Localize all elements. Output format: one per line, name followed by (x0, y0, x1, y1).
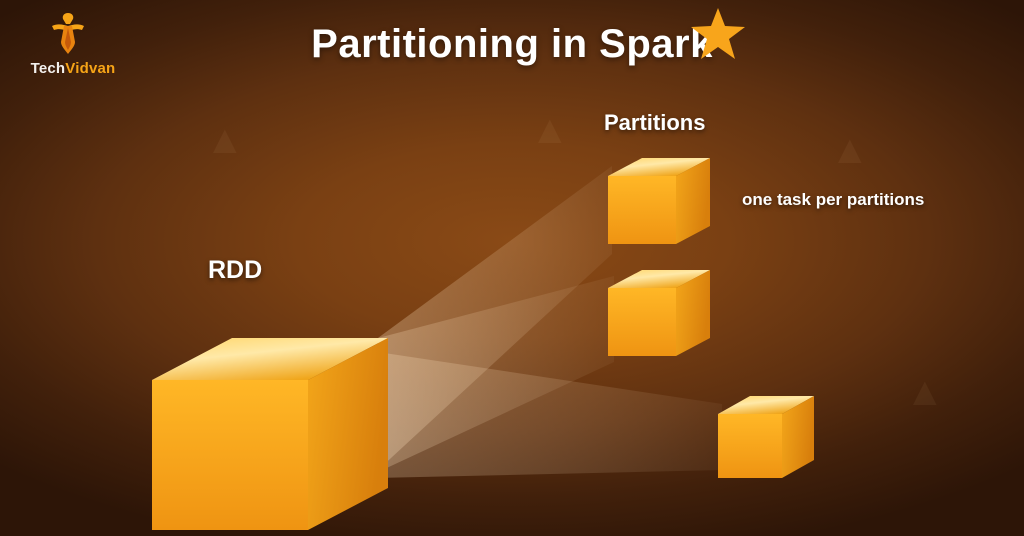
beam-to-partition-1 (378, 166, 612, 470)
page-title-wrap: Partitioning in Spark (0, 22, 1024, 67)
partition-cube-2 (606, 262, 712, 364)
label-rdd: RDD (208, 256, 262, 285)
partition-cube-3 (716, 390, 816, 486)
watermark-logo: ▲ (830, 130, 870, 170)
beam-to-partition-3 (378, 352, 722, 478)
watermark-logo: ▲ (205, 120, 245, 160)
watermark-logo: ▲ (530, 110, 570, 150)
label-one-task-per-partitions: one task per partitions (742, 190, 924, 210)
star-icon (689, 6, 747, 64)
watermark-logo: ▲ (905, 372, 945, 412)
rdd-cube (150, 318, 390, 536)
diagram-canvas: ▲ ▲ ▲ ▲ TechVidvan Partitioning in Spark (0, 0, 1024, 536)
beam-to-partition-2 (378, 276, 614, 472)
partition-cube-1 (606, 150, 712, 252)
page-title-text: Partitioning in Spark (311, 22, 713, 66)
label-partitions: Partitions (604, 110, 705, 136)
page-title: Partitioning in Spark (311, 22, 713, 67)
